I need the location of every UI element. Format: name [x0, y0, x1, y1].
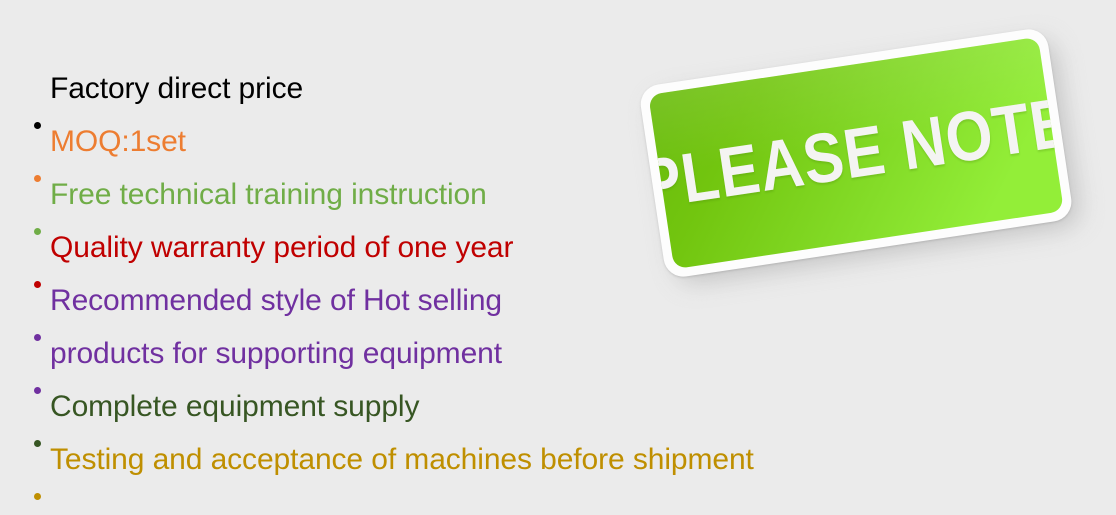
please-note-badge: PLEASE NOTE — [636, 30, 1076, 275]
bullet-text: Factory direct price — [50, 62, 303, 115]
bullet-text: Recommended style of Hot selling — [50, 274, 502, 327]
list-item: Testing and acceptance of machines befor… — [30, 433, 910, 486]
bullet-text: Complete equipment supply — [50, 380, 419, 433]
list-item: products for supporting equipment — [30, 327, 910, 380]
bullet-text: MOQ:1set — [50, 115, 186, 168]
slide-canvas: Factory direct price MOQ:1set Free techn… — [0, 0, 1116, 515]
bullet-text: Quality warranty period of one year — [50, 221, 513, 274]
bullet-text: products for supporting equipment — [50, 327, 502, 380]
badge-rotation-wrapper: PLEASE NOTE — [620, 0, 1091, 306]
list-item: Complete equipment supply — [30, 380, 910, 433]
bullet-text: Testing and acceptance of machines befor… — [50, 433, 754, 486]
bullet-text: Free technical training instruction — [50, 168, 487, 221]
